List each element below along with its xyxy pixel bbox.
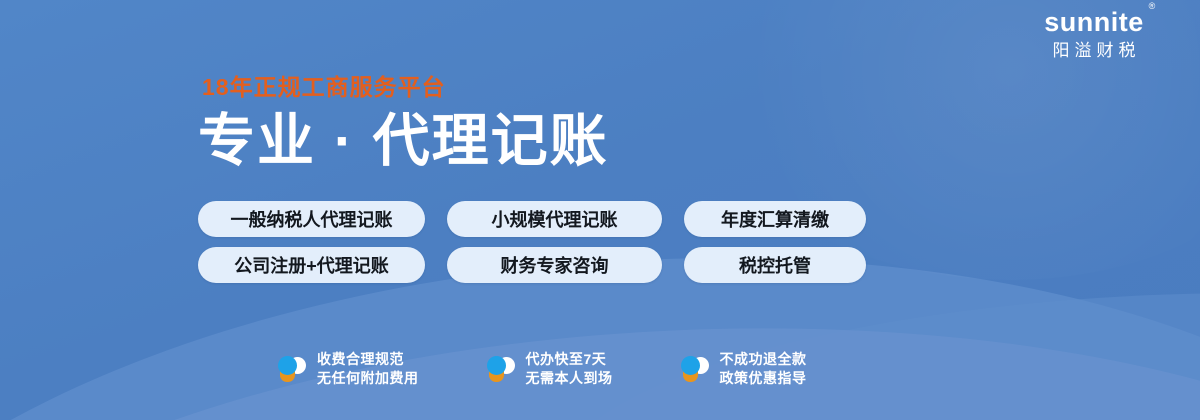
- feature-line-1: 代办快至7天: [526, 350, 613, 369]
- page-title: 专业 · 代理记账: [198, 108, 609, 174]
- feature-line-2: 政策优惠指导: [720, 369, 807, 388]
- feature-text-guarantee: 不成功退全款 政策优惠指导: [720, 350, 807, 388]
- service-pill-row-2: 公司注册+代理记账 财务专家咨询 税控托管: [198, 247, 866, 283]
- service-pill-row-1: 一般纳税人代理记账 小规模代理记账 年度汇算清缴: [198, 201, 866, 237]
- logo-chinese-name: 阳溢财税: [1004, 39, 1184, 63]
- feature-item-guarantee: 不成功退全款 政策优惠指导: [679, 350, 807, 388]
- feature-line-1: 收费合理规范: [317, 350, 419, 369]
- headline-block: 18年正规工商服务平台 专业 · 代理记账: [198, 74, 609, 174]
- logo-wordmark-text: sunnite: [1044, 7, 1144, 37]
- service-pill-small-scale-bookkeeping[interactable]: 小规模代理记账: [447, 201, 662, 237]
- service-pill-finance-expert-consulting[interactable]: 财务专家咨询: [447, 247, 662, 283]
- blue-orange-dot-icon: [679, 353, 711, 385]
- feature-line-2: 无需本人到场: [526, 369, 613, 388]
- registered-trademark-icon: ®: [1149, 2, 1156, 11]
- service-pill-annual-settlement[interactable]: 年度汇算清缴: [684, 201, 866, 237]
- service-pill-company-registration-bookkeeping[interactable]: 公司注册+代理记账: [198, 247, 425, 283]
- feature-text-pricing: 收费合理规范 无任何附加费用: [317, 350, 419, 388]
- service-pill-grid: 一般纳税人代理记账 小规模代理记账 年度汇算清缴 公司注册+代理记账 财务专家咨…: [198, 201, 866, 283]
- feature-line-2: 无任何附加费用: [317, 369, 419, 388]
- feature-text-speed: 代办快至7天 无需本人到场: [526, 350, 613, 388]
- brand-logo[interactable]: sunnite ® 阳溢财税: [1004, 6, 1184, 63]
- blue-orange-dot-icon: [485, 353, 517, 385]
- feature-item-pricing: 收费合理规范 无任何附加费用: [276, 350, 419, 388]
- feature-strip: 收费合理规范 无任何附加费用 代办快至7天 无需本人到场 不成功退全款: [276, 350, 807, 388]
- feature-line-1: 不成功退全款: [720, 350, 807, 369]
- promo-banner: sunnite ® 阳溢财税 18年正规工商服务平台 专业 · 代理记账 一般纳…: [0, 0, 1200, 420]
- eyebrow-text: 18年正规工商服务平台: [202, 74, 609, 100]
- service-pill-tax-control-hosting[interactable]: 税控托管: [684, 247, 866, 283]
- feature-item-speed: 代办快至7天 无需本人到场: [485, 350, 613, 388]
- logo-wordmark: sunnite ®: [1044, 6, 1144, 38]
- blue-orange-dot-icon: [276, 353, 308, 385]
- service-pill-general-taxpayer-bookkeeping[interactable]: 一般纳税人代理记账: [198, 201, 425, 237]
